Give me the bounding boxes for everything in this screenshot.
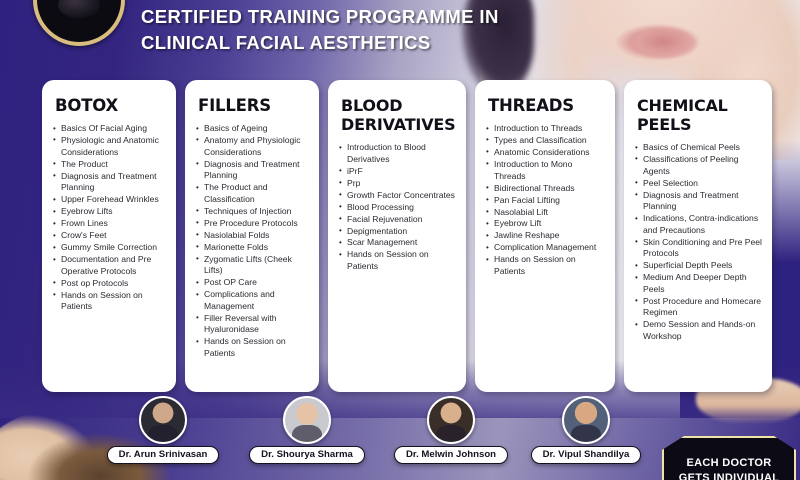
faculty-member-3: Dr. Melwin Johnson <box>376 396 526 464</box>
module-cards-row: BOTOX Basics Of Facial Aging Physiologic… <box>42 80 782 392</box>
faculty-name-badge: Dr. Shourya Sharma <box>249 446 365 465</box>
module-list-blood-derivatives: Introduction to Blood Derivatives iPrF P… <box>339 142 457 273</box>
list-item: Eyebrow Lift <box>486 218 606 230</box>
header-title-line-2: CLINICAL FACIAL AESTHETICS <box>141 30 561 56</box>
list-item: Bidirectional Threads <box>486 183 606 195</box>
list-item: Gummy Smile Correction <box>53 242 167 254</box>
avatar <box>427 396 475 444</box>
module-card-blood-derivatives: BLOOD DERIVATIVES Introduction to Blood … <box>328 80 466 392</box>
list-item: Medium And Deeper Depth Peels <box>635 272 763 295</box>
list-item: Post Procedure and Homecare Regimen <box>635 296 763 319</box>
module-card-botox: BOTOX Basics Of Facial Aging Physiologic… <box>42 80 176 392</box>
avatar <box>283 396 331 444</box>
module-title-fillers: FILLERS <box>198 96 310 115</box>
list-item: Post op Protocols <box>53 278 167 290</box>
poster-root: CERTIFIED TRAINING PROGRAMME IN CLINICAL… <box>0 0 800 480</box>
module-title-botox: BOTOX <box>55 96 167 115</box>
list-item: Physiologic and Anatomic Considerations <box>53 135 167 158</box>
individual-attention-callout: EACH DOCTOR GETS INDIVIDUAL <box>662 436 796 480</box>
faculty-member-1: Dr. Arun Srinivasan <box>88 396 238 464</box>
list-item: Indications, Contra-indications and Prec… <box>635 213 763 236</box>
list-item: Types and Classification <box>486 135 606 147</box>
list-item: Growth Factor Concentrates <box>339 190 457 202</box>
faculty-name-badge: Dr. Vipul Shandilya <box>531 446 642 465</box>
list-item: Eyebrow Lifts <box>53 206 167 218</box>
list-item: Introduction to Mono Threads <box>486 159 606 182</box>
list-item: Introduction to Blood Derivatives <box>339 142 457 165</box>
list-item: Marionette Folds <box>196 242 310 254</box>
list-item: Pre Procedure Protocols <box>196 218 310 230</box>
list-item: Hands on Session on Patients <box>53 290 167 313</box>
module-title-blood-derivatives: BLOOD DERIVATIVES <box>341 96 457 134</box>
list-item: Depigmentation <box>339 226 457 238</box>
list-item: Facial Rejuvenation <box>339 214 457 226</box>
list-item: Anatomic Considerations <box>486 147 606 159</box>
list-item: Nasolabial Lift <box>486 207 606 219</box>
list-item: Prp <box>339 178 457 190</box>
logo-emblem-icon <box>58 0 100 18</box>
list-item: Blood Processing <box>339 202 457 214</box>
list-item: Skin Conditioning and Pre Peel Protocols <box>635 237 763 260</box>
list-item: Diagnosis and Treatment Planning <box>53 171 167 194</box>
faculty-member-4: Dr. Vipul Shandilya <box>511 396 661 464</box>
list-item: The Product and Classification <box>196 182 310 205</box>
callout-line-1: EACH DOCTOR <box>664 456 794 471</box>
list-item: Filler Reversal with Hyaluronidase <box>196 313 310 336</box>
list-item: Diagnosis and Treatment Planning <box>196 159 310 182</box>
list-item: Basics of Ageing <box>196 123 310 135</box>
list-item: Peel Selection <box>635 178 763 190</box>
list-item: Basics Of Facial Aging <box>53 123 167 135</box>
list-item: Basics of Chemical Peels <box>635 142 763 154</box>
list-item: Superficial Depth Peels <box>635 260 763 272</box>
list-item: Techniques of Injection <box>196 206 310 218</box>
list-item: Pan Facial Lifting <box>486 195 606 207</box>
module-list-botox: Basics Of Facial Aging Physiologic and A… <box>53 123 167 313</box>
list-item: The Product <box>53 159 167 171</box>
faculty-member-2: Dr. Shourya Sharma <box>232 396 382 464</box>
list-item: Hands on Session on Patients <box>196 336 310 359</box>
list-item: Complications and Management <box>196 289 310 312</box>
poster-header: CERTIFIED TRAINING PROGRAMME IN CLINICAL… <box>141 4 561 56</box>
list-item: iPrF <box>339 166 457 178</box>
list-item: Upper Forehead Wrinkles <box>53 194 167 206</box>
list-item: Crow's Feet <box>53 230 167 242</box>
list-item: Jawline Reshape <box>486 230 606 242</box>
list-item: Diagnosis and Treatment Planning <box>635 190 763 213</box>
module-list-chemical-peels: Basics of Chemical Peels Classifications… <box>635 142 763 343</box>
list-item: Frown Lines <box>53 218 167 230</box>
avatar <box>139 396 187 444</box>
module-title-threads: THREADS <box>488 96 606 115</box>
callout-line-2: GETS INDIVIDUAL <box>664 471 794 480</box>
list-item: Complication Management <box>486 242 606 254</box>
avatar <box>562 396 610 444</box>
list-item: Post OP Care <box>196 277 310 289</box>
module-list-threads: Introduction to Threads Types and Classi… <box>486 123 606 278</box>
list-item: Nasiolabial Folds <box>196 230 310 242</box>
list-item: Zygomatic Lifts (Cheek Lifts) <box>196 254 310 277</box>
list-item: Hands on Session on Patients <box>486 254 606 277</box>
list-item: Hands on Session on Patients <box>339 249 457 272</box>
module-card-chemical-peels: CHEMICAL PEELS Basics of Chemical Peels … <box>624 80 772 392</box>
list-item: Introduction to Threads <box>486 123 606 135</box>
faculty-name-badge: Dr. Melwin Johnson <box>394 446 508 465</box>
list-item: Anatomy and Physiologic Considerations <box>196 135 310 158</box>
list-item: Scar Management <box>339 237 457 249</box>
header-title-line-1: CERTIFIED TRAINING PROGRAMME IN <box>141 4 561 30</box>
module-card-fillers: FILLERS Basics of Ageing Anatomy and Phy… <box>185 80 319 392</box>
list-item: Classifications of Peeling Agents <box>635 154 763 177</box>
faculty-name-badge: Dr. Arun Srinivasan <box>107 446 220 465</box>
module-list-fillers: Basics of Ageing Anatomy and Physiologic… <box>196 123 310 360</box>
module-title-chemical-peels: CHEMICAL PEELS <box>637 96 763 134</box>
list-item: Documentation and Pre Operative Protocol… <box>53 254 167 277</box>
module-card-threads: THREADS Introduction to Threads Types an… <box>475 80 615 392</box>
list-item: Demo Session and Hands-on Workshop <box>635 319 763 342</box>
